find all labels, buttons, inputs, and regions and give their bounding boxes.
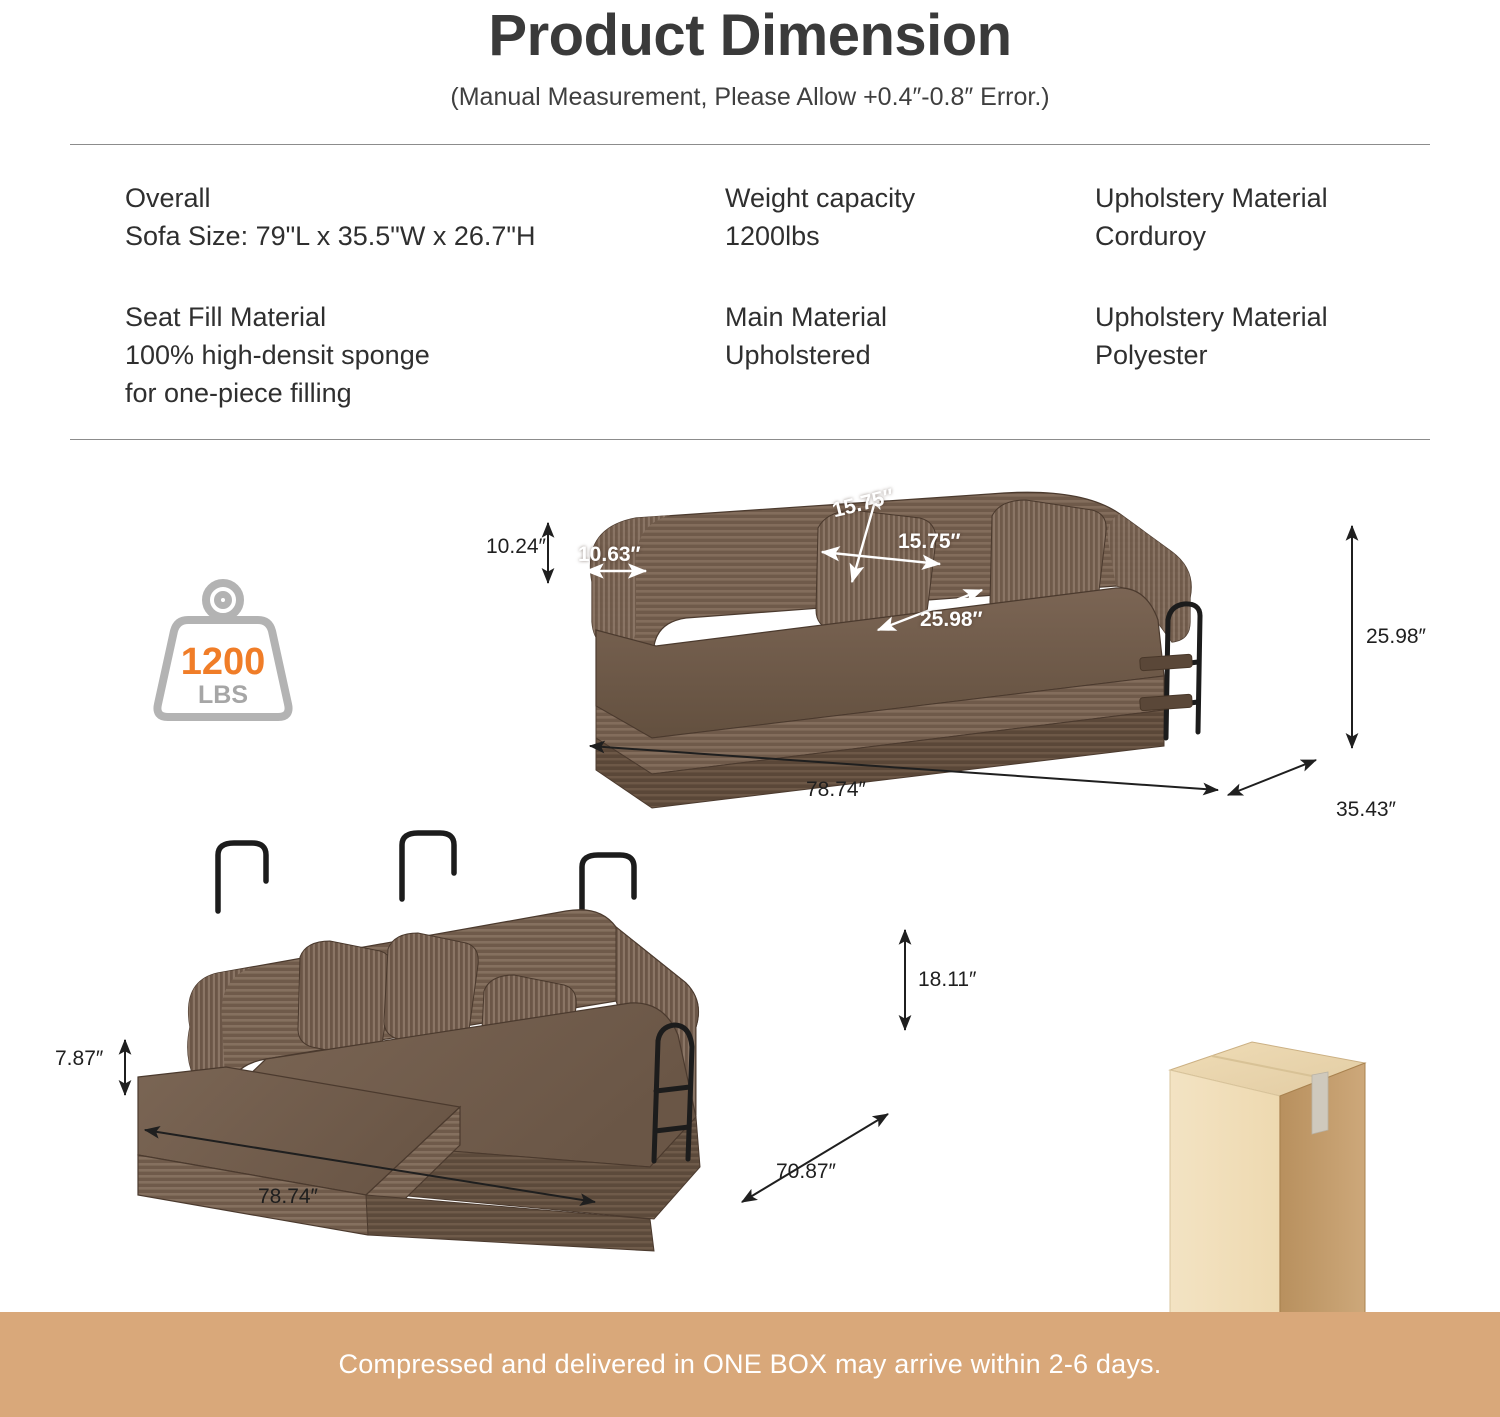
dim-mattress-thickness: 7.87″ (55, 1047, 103, 1071)
spec-item-upholstery-corduroy: Upholstery Material Corduroy (1095, 179, 1485, 256)
metal-handle-icon (218, 833, 634, 919)
header: Product Dimension (Manual Measurement, P… (0, 0, 1500, 112)
dim-back-height: 10.24″ (486, 535, 546, 559)
spec-label: Weight capacity (725, 179, 1095, 217)
weight-capacity-icon: 1200 LBS (148, 578, 298, 723)
weight-number: 1200 (181, 641, 266, 683)
weight-unit: LBS (198, 681, 248, 709)
page-subtitle: (Manual Measurement, Please Allow +0.4″-… (0, 83, 1500, 112)
spec-value: Corduroy (1095, 217, 1485, 255)
dim-bed-depth: 70.87″ (776, 1160, 836, 1184)
shipping-banner-text: Compressed and delivered in ONE BOX may … (339, 1349, 1162, 1380)
dim-seat-depth: 25.98″ (920, 608, 983, 632)
spec-value: Sofa Size: 79"L x 35.5"W x 26.7"H (125, 217, 725, 255)
spec-label: Upholstery Material (1095, 298, 1485, 336)
spec-label: Seat Fill Material (125, 298, 725, 336)
spec-item-main-material: Main Material Upholstered (725, 298, 1095, 413)
spec-value: Polyester (1095, 336, 1485, 374)
spec-label: Overall (125, 179, 725, 217)
spec-item-weight-capacity: Weight capacity 1200lbs (725, 179, 1095, 256)
dim-bed-back-height: 18.11″ (918, 968, 976, 992)
sofa-folded-illustration (560, 470, 1220, 815)
dim-overall-depth: 35.43″ (1336, 798, 1396, 822)
specification-table: Overall Sofa Size: 79"L x 35.5"W x 26.7"… (70, 144, 1430, 440)
spec-label: Main Material (725, 298, 1095, 336)
shipping-banner: Compressed and delivered in ONE BOX may … (0, 1312, 1500, 1417)
spec-value: 100% high-densit sponge for one-piece fi… (125, 336, 725, 413)
spec-label: Upholstery Material (1095, 179, 1485, 217)
page-title: Product Dimension (0, 0, 1500, 69)
box-front-face (1170, 1070, 1280, 1342)
spec-item-overall: Overall Sofa Size: 79"L x 35.5"W x 26.7"… (125, 179, 725, 256)
dim-overall-height: 25.98″ (1366, 625, 1426, 649)
dimension-diagram: 1200 LBS (0, 430, 1500, 1320)
bed-pillow-1 (298, 941, 392, 1057)
spec-value: Upholstered (725, 336, 1095, 374)
shipping-box-illustration (1160, 1030, 1375, 1350)
box-tape (1312, 1072, 1328, 1134)
bed-mode-illustration (130, 815, 890, 1255)
spec-item-seat-fill: Seat Fill Material 100% high-densit spon… (125, 298, 725, 413)
dim-overall-length: 78.74″ (806, 778, 866, 802)
dim-mattress-length: 78.74″ (258, 1185, 318, 1209)
dim-pillow-width: 15.75″ (898, 530, 961, 554)
spec-value: 1200lbs (725, 217, 1095, 255)
dim-arm-width: 10.63″ (578, 543, 641, 567)
spec-item-upholstery-polyester: Upholstery Material Polyester (1095, 298, 1485, 413)
